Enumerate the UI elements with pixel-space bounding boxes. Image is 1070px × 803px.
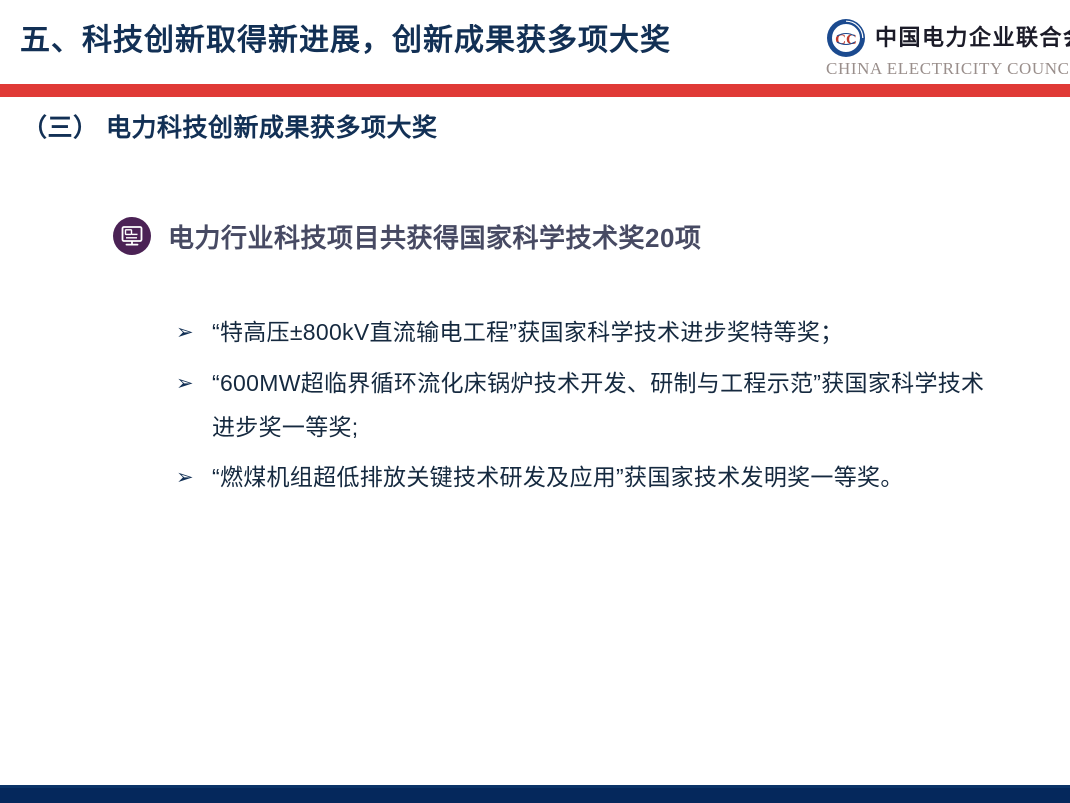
footer-bar-hairline: [0, 785, 1070, 788]
topic-text: 电力行业科技项目共获得国家科学技术奖20项: [168, 218, 701, 255]
header-red-divider: [0, 84, 1070, 97]
arrow-bullet-icon: ➢: [176, 455, 212, 500]
monitor-icon: [113, 217, 151, 255]
topic-row: 电力行业科技项目共获得国家科学技术奖20项: [113, 217, 701, 255]
list-item: ➢ “燃煤机组超低排放关键技术研发及应用”获国家技术发明奖一等奖。: [176, 455, 1006, 500]
svg-text:CC: CC: [835, 32, 857, 48]
list-item-text: “600MW超临界循环流化床锅炉技术开发、研制与工程示范”获国家科学技术进步奖一…: [212, 361, 1006, 449]
section-heading: （三） 电力科技创新成果获多项大奖: [22, 108, 437, 144]
brand-logo: CC 中国电力企业联合会 CHINA ELECTRICITY COUNCIL: [826, 18, 1062, 80]
list-item: ➢ “特高压±800kV直流输电工程”获国家科学技术进步奖特等奖；: [176, 310, 1006, 355]
list-item-text: “燃煤机组超低排放关键技术研发及应用”获国家技术发明奖一等奖。: [212, 455, 1006, 499]
page-title: 五、科技创新取得新进展，创新成果获多项大奖: [20, 21, 671, 61]
arrow-bullet-icon: ➢: [176, 310, 212, 355]
arrow-bullet-icon: ➢: [176, 361, 212, 406]
list-item: ➢ “600MW超临界循环流化床锅炉技术开发、研制与工程示范”获国家科学技术进步…: [176, 361, 1006, 449]
cec-circular-emblem-icon: CC: [826, 18, 866, 58]
presentation-slide: 五、科技创新取得新进展，创新成果获多项大奖 CC 中国电力企业联合会 C: [0, 0, 1070, 803]
brand-name-cn: 中国电力企业联合会: [875, 25, 1070, 51]
brand-name-row: CC 中国电力企业联合会: [826, 18, 1062, 58]
brand-name-en: CHINA ELECTRICITY COUNCIL: [826, 59, 1062, 79]
slide-header: 五、科技创新取得新进展，创新成果获多项大奖 CC 中国电力企业联合会 C: [0, 0, 1070, 84]
footer-bar: [0, 785, 1070, 803]
list-item-text: “特高压±800kV直流输电工程”获国家科学技术进步奖特等奖；: [212, 310, 1006, 354]
bullet-list: ➢ “特高压±800kV直流输电工程”获国家科学技术进步奖特等奖； ➢ “600…: [176, 310, 1006, 506]
